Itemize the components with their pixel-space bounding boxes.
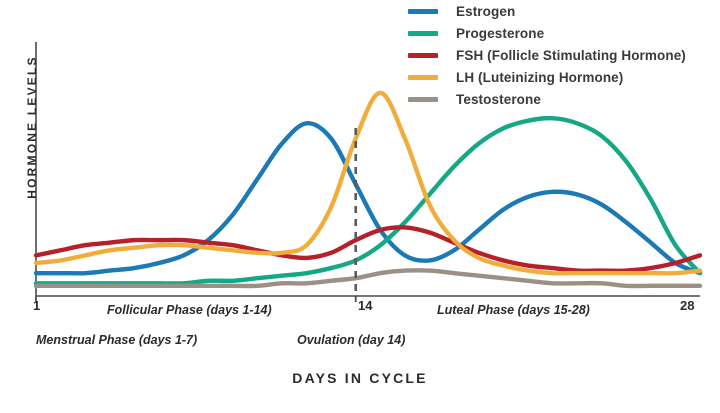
legend-label: Progesterone bbox=[456, 26, 544, 41]
legend-item[interactable]: LH (Luteinizing Hormone) bbox=[408, 66, 686, 88]
series-line bbox=[36, 118, 700, 283]
chart-legend: EstrogenProgesteroneFSH (Follicle Stimul… bbox=[408, 0, 686, 110]
legend-label: LH (Luteinizing Hormone) bbox=[456, 70, 623, 85]
series-line bbox=[36, 93, 700, 274]
legend-item[interactable]: FSH (Follicle Stimulating Hormone) bbox=[408, 44, 686, 66]
x-tick-day-1: 1 bbox=[33, 298, 40, 313]
legend-item[interactable]: Progesterone bbox=[408, 22, 686, 44]
x-tick-day-14: 14 bbox=[358, 298, 372, 313]
annotation-luteal-phase: Luteal Phase (days 15-28) bbox=[437, 303, 590, 317]
legend-swatch-icon bbox=[408, 75, 438, 80]
legend-item[interactable]: Testosterone bbox=[408, 88, 686, 110]
x-axis-title: DAYS IN CYCLE bbox=[0, 370, 720, 386]
legend-item[interactable]: Estrogen bbox=[408, 0, 686, 22]
legend-swatch-icon bbox=[408, 31, 438, 36]
annotation-follicular-phase: Follicular Phase (days 1-14) bbox=[107, 303, 272, 317]
x-tick-day-28: 28 bbox=[680, 298, 694, 313]
legend-label: FSH (Follicle Stimulating Hormone) bbox=[456, 48, 686, 63]
legend-swatch-icon bbox=[408, 9, 438, 14]
series-line bbox=[36, 123, 700, 273]
hormone-cycle-chart: HORMONE LEVELS DAYS IN CYCLE 1 14 28 Fol… bbox=[0, 0, 720, 413]
annotation-menstrual-phase: Menstrual Phase (days 1-7) bbox=[36, 333, 197, 347]
legend-label: Testosterone bbox=[456, 92, 541, 107]
y-axis-title: HORMONE LEVELS bbox=[25, 37, 39, 217]
legend-label: Estrogen bbox=[456, 4, 515, 19]
legend-swatch-icon bbox=[408, 97, 438, 102]
legend-swatch-icon bbox=[408, 53, 438, 58]
annotation-ovulation: Ovulation (day 14) bbox=[297, 333, 405, 347]
